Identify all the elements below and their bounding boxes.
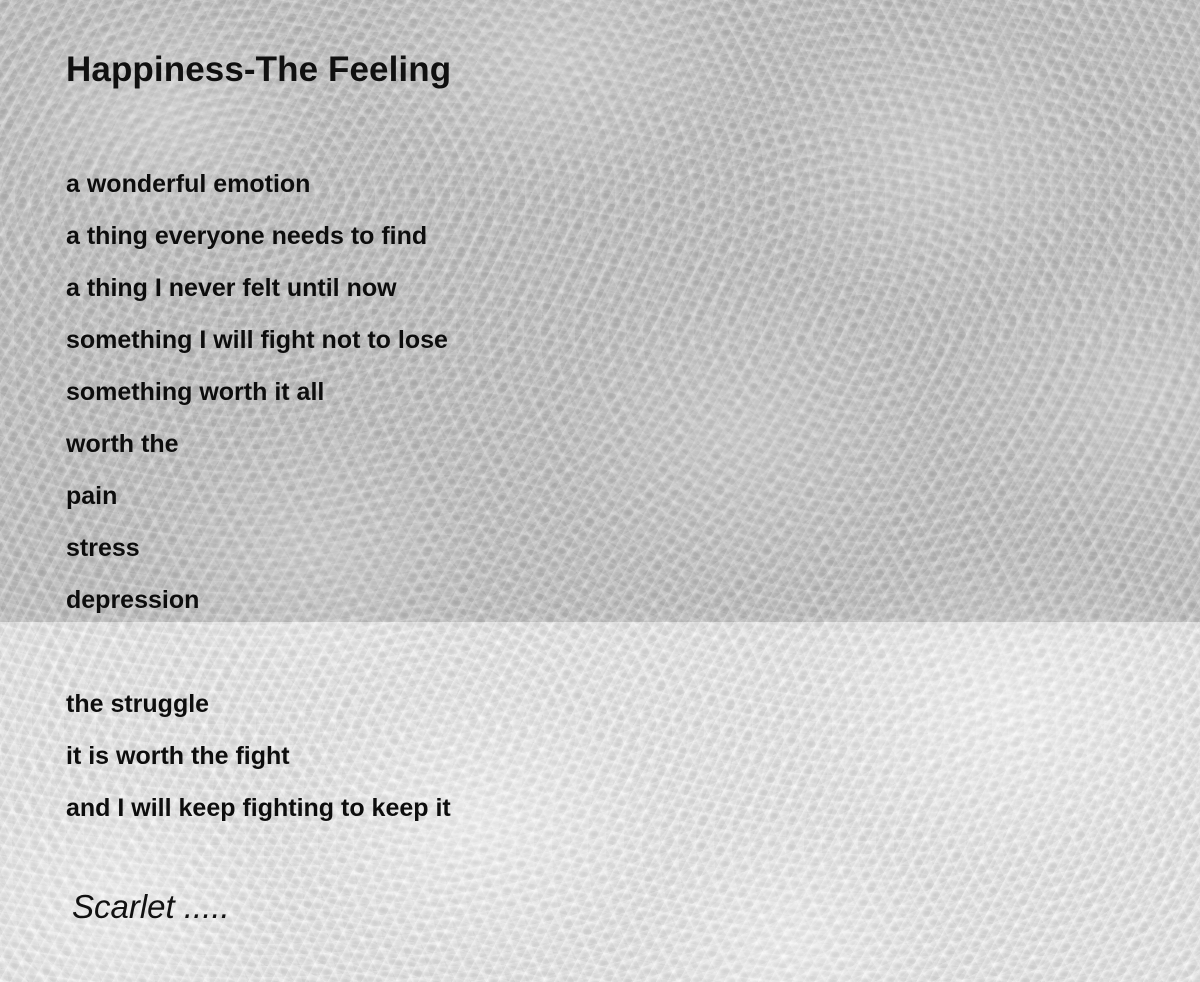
- poem-line: the struggle: [66, 678, 451, 730]
- poem-line: a thing I never felt until now: [66, 262, 448, 314]
- stanza-second: the struggle it is worth the fight and I…: [66, 678, 451, 834]
- poem-line: it is worth the fight: [66, 730, 451, 782]
- poem-line: pain: [66, 470, 448, 522]
- poem-line: something worth it all: [66, 366, 448, 418]
- poem-line: a wonderful emotion: [66, 158, 448, 210]
- poem-image-canvas: Happiness-The Feeling a wonderful emotio…: [0, 0, 1200, 982]
- stanza-first: a wonderful emotion a thing everyone nee…: [66, 158, 448, 626]
- poem-line: and I will keep fighting to keep it: [66, 782, 451, 834]
- poem-line: depression: [66, 574, 448, 626]
- poem-content: Happiness-The Feeling a wonderful emotio…: [0, 0, 1200, 982]
- author-signature: Scarlet .....: [72, 888, 230, 926]
- poem-title: Happiness-The Feeling: [66, 50, 451, 90]
- poem-line: stress: [66, 522, 448, 574]
- poem-line: a thing everyone needs to find: [66, 210, 448, 262]
- poem-line: something I will fight not to lose: [66, 314, 448, 366]
- poem-line: worth the: [66, 418, 448, 470]
